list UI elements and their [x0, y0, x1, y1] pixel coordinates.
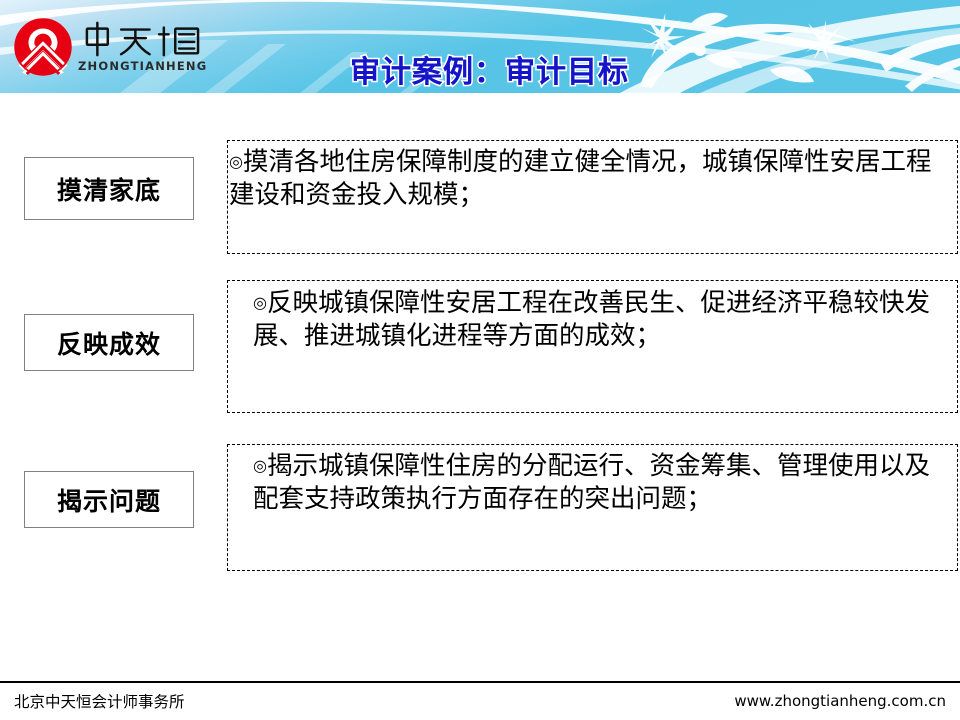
tag-box-2: 反映成效 — [24, 314, 194, 371]
logo-pinyin: ZHONGTIANHENG — [78, 61, 206, 73]
bullet-icon-1: ◎ — [229, 152, 243, 171]
tag-box-1: 摸清家底 — [24, 157, 194, 220]
bullet-icon-3: ◎ — [253, 456, 267, 475]
content-text-1: ◎摸清各地住房保障制度的建立健全情况，城镇保障性安居工程建设和资金投入规模； — [229, 146, 955, 212]
content-text-3: ◎揭示城镇保障性住房的分配运行、资金筹集、管理使用以及配套支持政策执行方面存在的… — [253, 450, 953, 516]
content-body-1: 摸清各地住房保障制度的建立健全情况，城镇保障性安居工程建设和资金投入规模； — [229, 147, 931, 210]
content-text-2: ◎反映城镇保障性安居工程在改善民生、促进经济平稳较快发展、推进城镇化进程等方面的… — [253, 287, 953, 353]
footer-company: 北京中天恒会计师事务所 — [14, 690, 185, 712]
logo-wordmark: ZHONGTIANHENG — [78, 21, 206, 73]
page-title: 审计案例：审计目标 — [350, 47, 629, 91]
tag-label-2: 反映成效 — [57, 325, 161, 361]
company-logo: ZHONGTIANHENG — [14, 16, 214, 78]
tag-label-3: 揭示问题 — [57, 482, 161, 518]
bullet-icon-2: ◎ — [253, 293, 267, 312]
footer-divider — [0, 681, 960, 683]
content-body-2: 反映城镇保障性安居工程在改善民生、促进经济平稳较快发展、推进城镇化进程等方面的成… — [253, 288, 930, 351]
tag-label-1: 摸清家底 — [57, 171, 161, 207]
content-body-3: 揭示城镇保障性住房的分配运行、资金筹集、管理使用以及配套支持政策执行方面存在的突… — [253, 451, 930, 514]
footer-website[interactable]: www.zhongtianheng.com.cn — [734, 692, 946, 710]
tag-box-3: 揭示问题 — [24, 471, 194, 528]
slide-header-banner: ZHONGTIANHENG 审计案例：审计目标 审计案例：审计目标 — [0, 0, 960, 93]
zhongtianheng-mark-icon — [14, 18, 72, 76]
logo-chinese-name-icon — [78, 21, 206, 59]
